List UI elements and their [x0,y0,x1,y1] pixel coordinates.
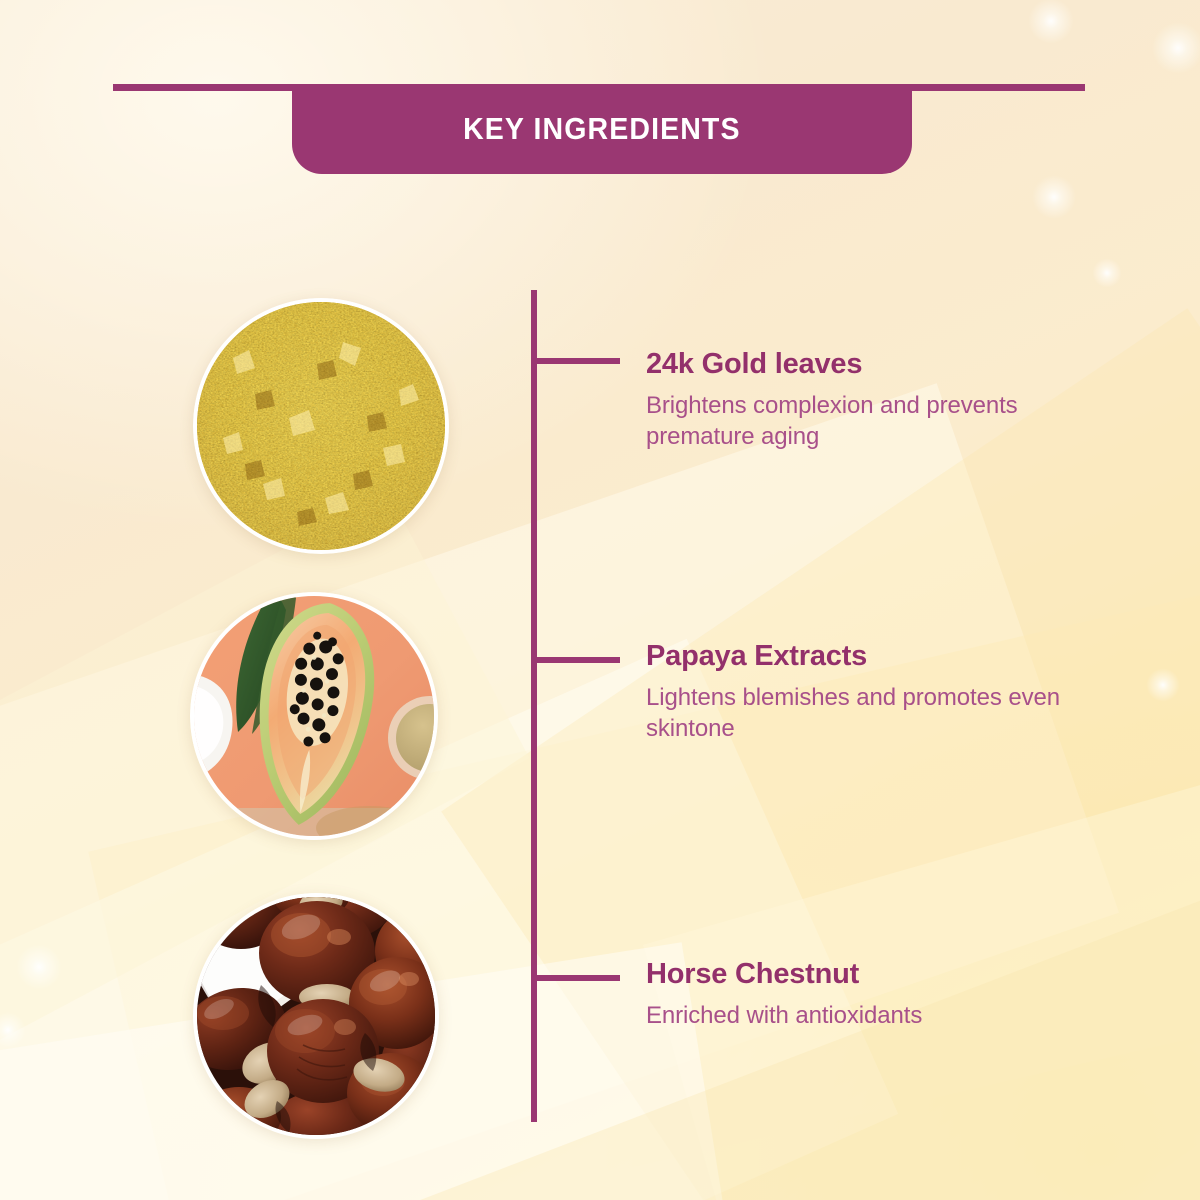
background-facet [0,383,1119,1200]
sparkle-glow [16,944,62,990]
ingredient-description: Enriched with antioxidants [646,1000,1116,1031]
timeline-tick [534,975,620,981]
ingredient-text: 24k Gold leaves Brightens complexion and… [646,348,1116,452]
ingredient-description: Brightens complexion and prevents premat… [646,390,1116,452]
papaya-thumbnail [190,592,438,840]
sparkle-glow [0,1012,26,1048]
ingredient-title: Horse Chestnut [646,958,1116,991]
page-title: KEY INGREDIENTS [463,111,741,147]
timeline-tick [534,657,620,663]
gold-leaves-thumbnail [193,298,449,554]
horse-chestnut-thumbnail [193,893,439,1139]
header: KEY INGREDIENTS [0,0,1200,200]
key-ingredients-infographic: KEY INGREDIENTS [0,0,1200,1200]
ingredient-title: 24k Gold leaves [646,348,1116,381]
ingredient-description: Lightens blemishes and promotes even ski… [646,682,1116,744]
timeline-tick [534,358,620,364]
ingredient-text: Papaya Extracts Lightens blemishes and p… [646,640,1116,744]
ingredient-text: Horse Chestnut Enriched with antioxidant… [646,958,1116,1031]
ingredient-title: Papaya Extracts [646,640,1116,673]
header-banner: KEY INGREDIENTS [292,84,912,174]
timeline-axis [531,290,537,1122]
sparkle-glow [1092,258,1122,288]
sparkle-glow [1146,668,1180,702]
